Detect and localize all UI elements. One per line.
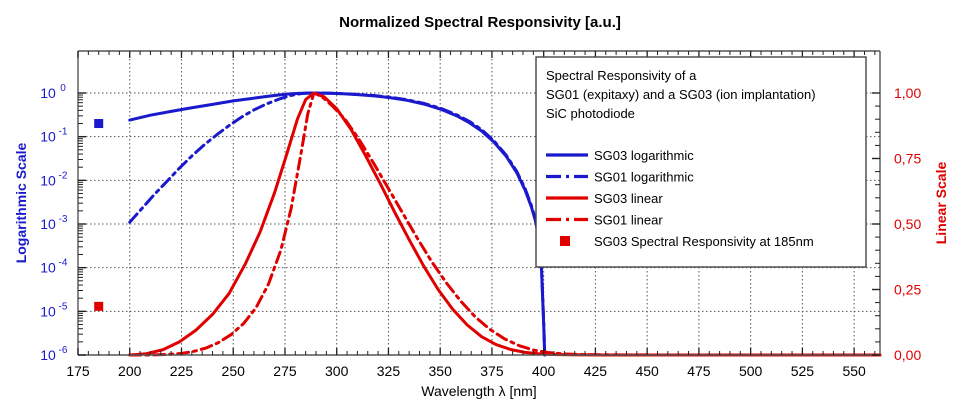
y-tick-label-right: 1,00: [894, 85, 921, 101]
y-tick-exponent: 0: [60, 83, 66, 94]
legend-header-line: SiC photodiode: [546, 106, 635, 121]
x-tick-label: 250: [222, 363, 246, 379]
y-axis-right-title: Linear Scale: [933, 162, 949, 245]
spectral-responsivity-chart: 1752002252502753003253503754004254504755…: [0, 0, 961, 414]
legend-entry-label: SG01 logarithmic: [594, 170, 694, 185]
y-tick-mantissa: 10: [40, 172, 56, 188]
y-tick-exponent: -2: [59, 170, 68, 181]
legend-entry-label: SG03 Spectral Responsivity at 185nm: [594, 234, 814, 249]
x-tick-label: 450: [635, 363, 659, 379]
y-axis-left-title: Logarithmic Scale: [13, 142, 29, 263]
y-tick-exponent: -5: [59, 301, 68, 312]
y-tick-label-right: 0,00: [894, 347, 921, 363]
x-tick-label: 325: [377, 363, 401, 379]
marker-sg03-log-at-185nm: [94, 119, 103, 128]
legend-marker-square: [560, 236, 570, 246]
x-tick-label: 500: [739, 363, 763, 379]
x-tick-label: 350: [429, 363, 453, 379]
y-tick-label-right: 0,50: [894, 216, 921, 232]
chart-title: Normalized Spectral Responsivity [a.u.]: [339, 14, 621, 31]
x-tick-label: 425: [584, 363, 608, 379]
x-axis-title: Wavelength λ [nm]: [421, 383, 536, 399]
legend-entry-label: SG03 linear: [594, 191, 663, 206]
legend-entry-label: SG01 linear: [594, 213, 663, 228]
y-tick-mantissa: 10: [40, 129, 56, 145]
y-tick-mantissa: 10: [40, 260, 56, 276]
x-tick-label: 550: [842, 363, 866, 379]
x-tick-label: 375: [480, 363, 504, 379]
y-tick-mantissa: 10: [40, 216, 56, 232]
chart-container: 1752002252502753003253503754004254504755…: [0, 0, 961, 414]
y-tick-label-right: 0,25: [894, 282, 921, 298]
y-tick-mantissa: 10: [40, 303, 56, 319]
y-tick-exponent: -4: [59, 258, 68, 269]
x-tick-label: 525: [791, 363, 815, 379]
y-tick-label-right: 0,75: [894, 151, 921, 167]
legend-header-line: SG01 (expitaxy) and a SG03 (ion implanta…: [546, 87, 816, 102]
y-tick-mantissa: 10: [40, 85, 56, 101]
y-tick-mantissa: 10: [40, 347, 56, 363]
x-tick-label: 225: [170, 363, 194, 379]
legend-entry-label: SG03 logarithmic: [594, 148, 694, 163]
y-tick-exponent: -3: [59, 214, 68, 225]
x-tick-label: 400: [532, 363, 556, 379]
x-tick-label: 200: [118, 363, 142, 379]
x-tick-label: 300: [325, 363, 349, 379]
x-tick-label: 475: [687, 363, 711, 379]
y-tick-exponent: -1: [59, 127, 68, 138]
marker-sg03-linear-at-185nm: [94, 302, 103, 311]
legend-header-line: Spectral Responsivity of a: [546, 68, 697, 83]
x-tick-label: 175: [66, 363, 90, 379]
y-tick-exponent: -6: [59, 345, 68, 356]
legend: Spectral Responsivity of aSG01 (expitaxy…: [536, 57, 866, 267]
x-tick-label: 275: [273, 363, 297, 379]
